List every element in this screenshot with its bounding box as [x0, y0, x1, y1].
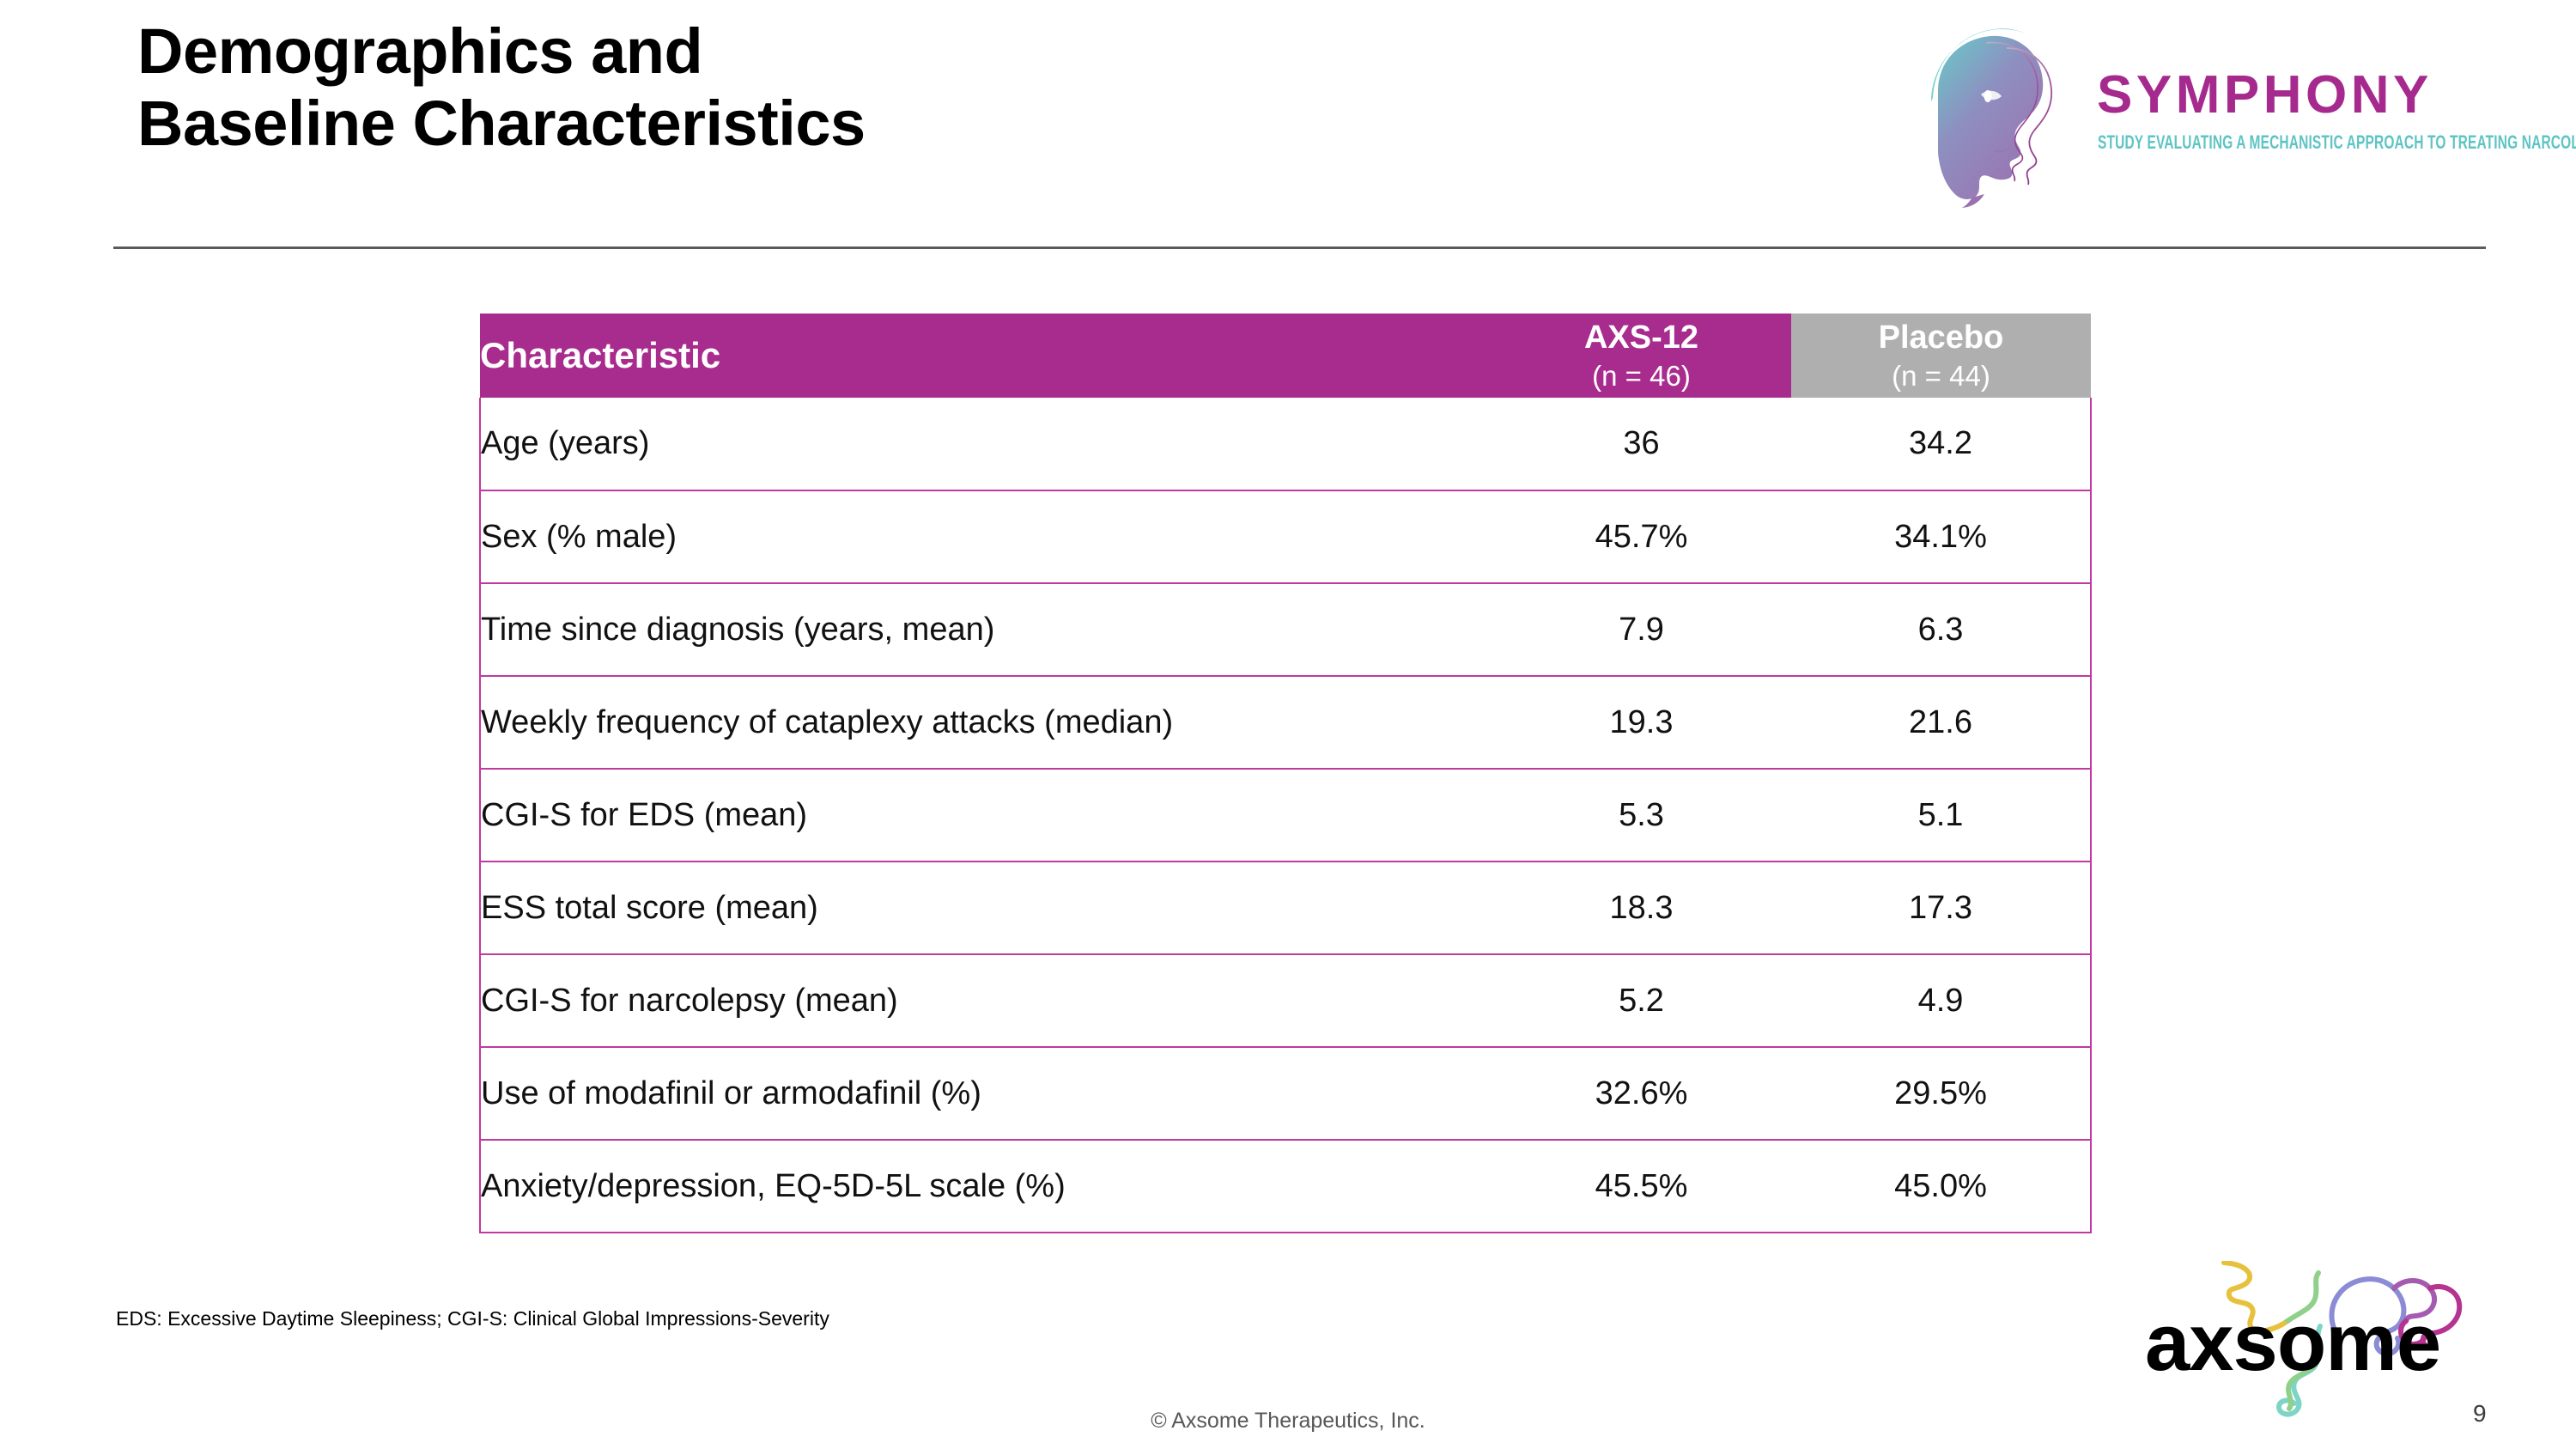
row-value-axs12: 45.5%: [1492, 1140, 1791, 1233]
page-title: Demographics and Baseline Characteristic…: [137, 15, 1769, 161]
row-value-placebo: 5.1: [1791, 769, 2091, 861]
row-value-axs12: 18.3: [1492, 861, 1791, 954]
symphony-tagline: STUDY EVALUATING A MECHANISTIC APPROACH …: [2098, 132, 2523, 155]
axsome-logo: axsome: [2104, 1261, 2533, 1424]
column-header-characteristic-label: Characteristic: [480, 335, 1492, 376]
table-row: Time since diagnosis (years, mean) 7.9 6…: [480, 583, 2091, 676]
axsome-wordmark: axsome: [2145, 1302, 2440, 1383]
row-label: Use of modafinil or armodafinil (%): [480, 1047, 1492, 1140]
row-label: ESS total score (mean): [480, 861, 1492, 954]
row-label: CGI-S for EDS (mean): [480, 769, 1492, 861]
row-value-placebo: 21.6: [1791, 676, 2091, 769]
table-row: Use of modafinil or armodafinil (%) 32.6…: [480, 1047, 2091, 1140]
column-header-placebo: Placebo (n = 44): [1791, 314, 2091, 398]
row-value-axs12: 5.2: [1492, 954, 1791, 1047]
title-divider: [113, 247, 2486, 249]
row-label: Sex (% male): [480, 490, 1492, 583]
row-label: Weekly frequency of cataplexy attacks (m…: [480, 676, 1492, 769]
row-value-axs12: 32.6%: [1492, 1047, 1791, 1140]
row-value-placebo: 17.3: [1791, 861, 2091, 954]
table-row: Sex (% male) 45.7% 34.1%: [480, 490, 2091, 583]
row-label: Anxiety/depression, EQ-5D-5L scale (%): [480, 1140, 1492, 1233]
row-value-axs12: 19.3: [1492, 676, 1791, 769]
row-label: Age (years): [480, 398, 1492, 490]
column-header-axs12-n: (n = 46): [1492, 360, 1791, 393]
symphony-head-icon: [1928, 24, 2087, 209]
footnote: EDS: Excessive Daytime Sleepiness; CGI-S…: [116, 1307, 829, 1330]
row-value-placebo: 34.1%: [1791, 490, 2091, 583]
table-row: CGI-S for narcolepsy (mean) 5.2 4.9: [480, 954, 2091, 1047]
row-value-placebo: 34.2: [1791, 398, 2091, 490]
table-row: Age (years) 36 34.2: [480, 398, 2091, 490]
row-value-axs12: 5.3: [1492, 769, 1791, 861]
row-value-axs12: 45.7%: [1492, 490, 1791, 583]
table-row: ESS total score (mean) 18.3 17.3: [480, 861, 2091, 954]
row-value-axs12: 36: [1492, 398, 1791, 490]
row-value-placebo: 45.0%: [1791, 1140, 2091, 1233]
column-header-placebo-label: Placebo: [1791, 320, 2091, 356]
row-value-axs12: 7.9: [1492, 583, 1791, 676]
column-header-axs12-label: AXS-12: [1492, 320, 1791, 356]
row-value-placebo: 29.5%: [1791, 1047, 2091, 1140]
column-header-axs12: AXS-12 (n = 46): [1492, 314, 1791, 398]
table-row: Anxiety/depression, EQ-5D-5L scale (%) 4…: [480, 1140, 2091, 1233]
symphony-wordmark: SYMPHONY: [2097, 69, 2518, 122]
row-label: CGI-S for narcolepsy (mean): [480, 954, 1492, 1047]
row-value-placebo: 6.3: [1791, 583, 2091, 676]
table-row: Weekly frequency of cataplexy attacks (m…: [480, 676, 2091, 769]
column-header-placebo-n: (n = 44): [1791, 360, 2091, 393]
row-label: Time since diagnosis (years, mean): [480, 583, 1492, 676]
table-header: Characteristic AXS-12 (n = 46) Placebo (…: [480, 314, 2091, 398]
symphony-logo: SYMPHONY STUDY EVALUATING A MECHANISTIC …: [1928, 24, 2520, 209]
column-header-characteristic: Characteristic: [480, 314, 1492, 398]
table-header-row: Characteristic AXS-12 (n = 46) Placebo (…: [480, 314, 2091, 398]
row-value-placebo: 4.9: [1791, 954, 2091, 1047]
table-row: CGI-S for EDS (mean) 5.3 5.1: [480, 769, 2091, 861]
demographics-table: Characteristic AXS-12 (n = 46) Placebo (…: [479, 314, 2092, 1233]
table-body: Age (years) 36 34.2 Sex (% male) 45.7% 3…: [480, 398, 2091, 1233]
